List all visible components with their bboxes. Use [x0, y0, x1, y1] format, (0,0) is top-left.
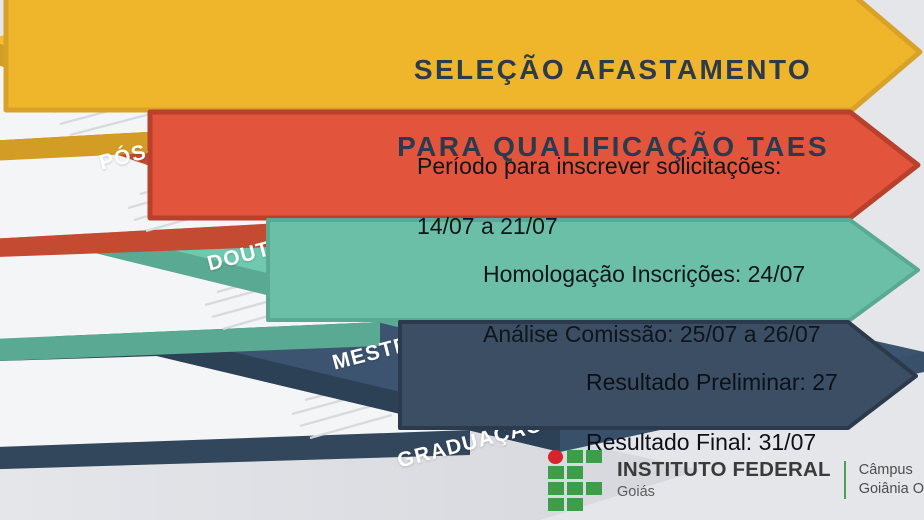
ifg-square-icon: [548, 466, 564, 479]
banner-homologacao-shape: [268, 220, 918, 320]
ifg-logo-mark: [548, 450, 604, 510]
ifg-divider: [844, 461, 846, 499]
infographic-canvas: PÓS-DOUTORADO DOUTORADO MESTRADO GRADUAÇ…: [0, 0, 924, 520]
banner-resultado-shape: [400, 322, 916, 428]
banner-group: [0, 0, 924, 520]
ifg-campus-name: Goiânia Oeste: [859, 480, 924, 499]
ifg-square-icon: [586, 482, 602, 495]
ifg-campus-label: Câmpus: [859, 461, 924, 480]
ifg-square-icon: [567, 450, 583, 463]
ifg-square-icon: [567, 482, 583, 495]
ifg-square-icon: [567, 498, 583, 511]
ifg-gap: [586, 466, 602, 479]
ifg-square-icon: [567, 466, 583, 479]
ifg-institution-name: INSTITUTO FEDERAL: [617, 459, 831, 481]
ifg-gap: [586, 498, 602, 511]
ifg-state-name: Goiás: [617, 483, 831, 501]
ifg-square-icon: [586, 450, 602, 463]
ifg-square-icon: [548, 482, 564, 495]
ifg-square-icon: [548, 498, 564, 511]
ifg-wordmark: INSTITUTO FEDERAL Goiás: [617, 459, 831, 501]
banner-title-shape: [6, 0, 920, 110]
ifg-logo: INSTITUTO FEDERAL Goiás Câmpus Goiânia O…: [548, 448, 918, 512]
ifg-red-dot-icon: [548, 450, 563, 464]
banner-inscricoes-shape: [150, 112, 918, 218]
ifg-campus-block: Câmpus Goiânia Oeste: [859, 461, 924, 499]
